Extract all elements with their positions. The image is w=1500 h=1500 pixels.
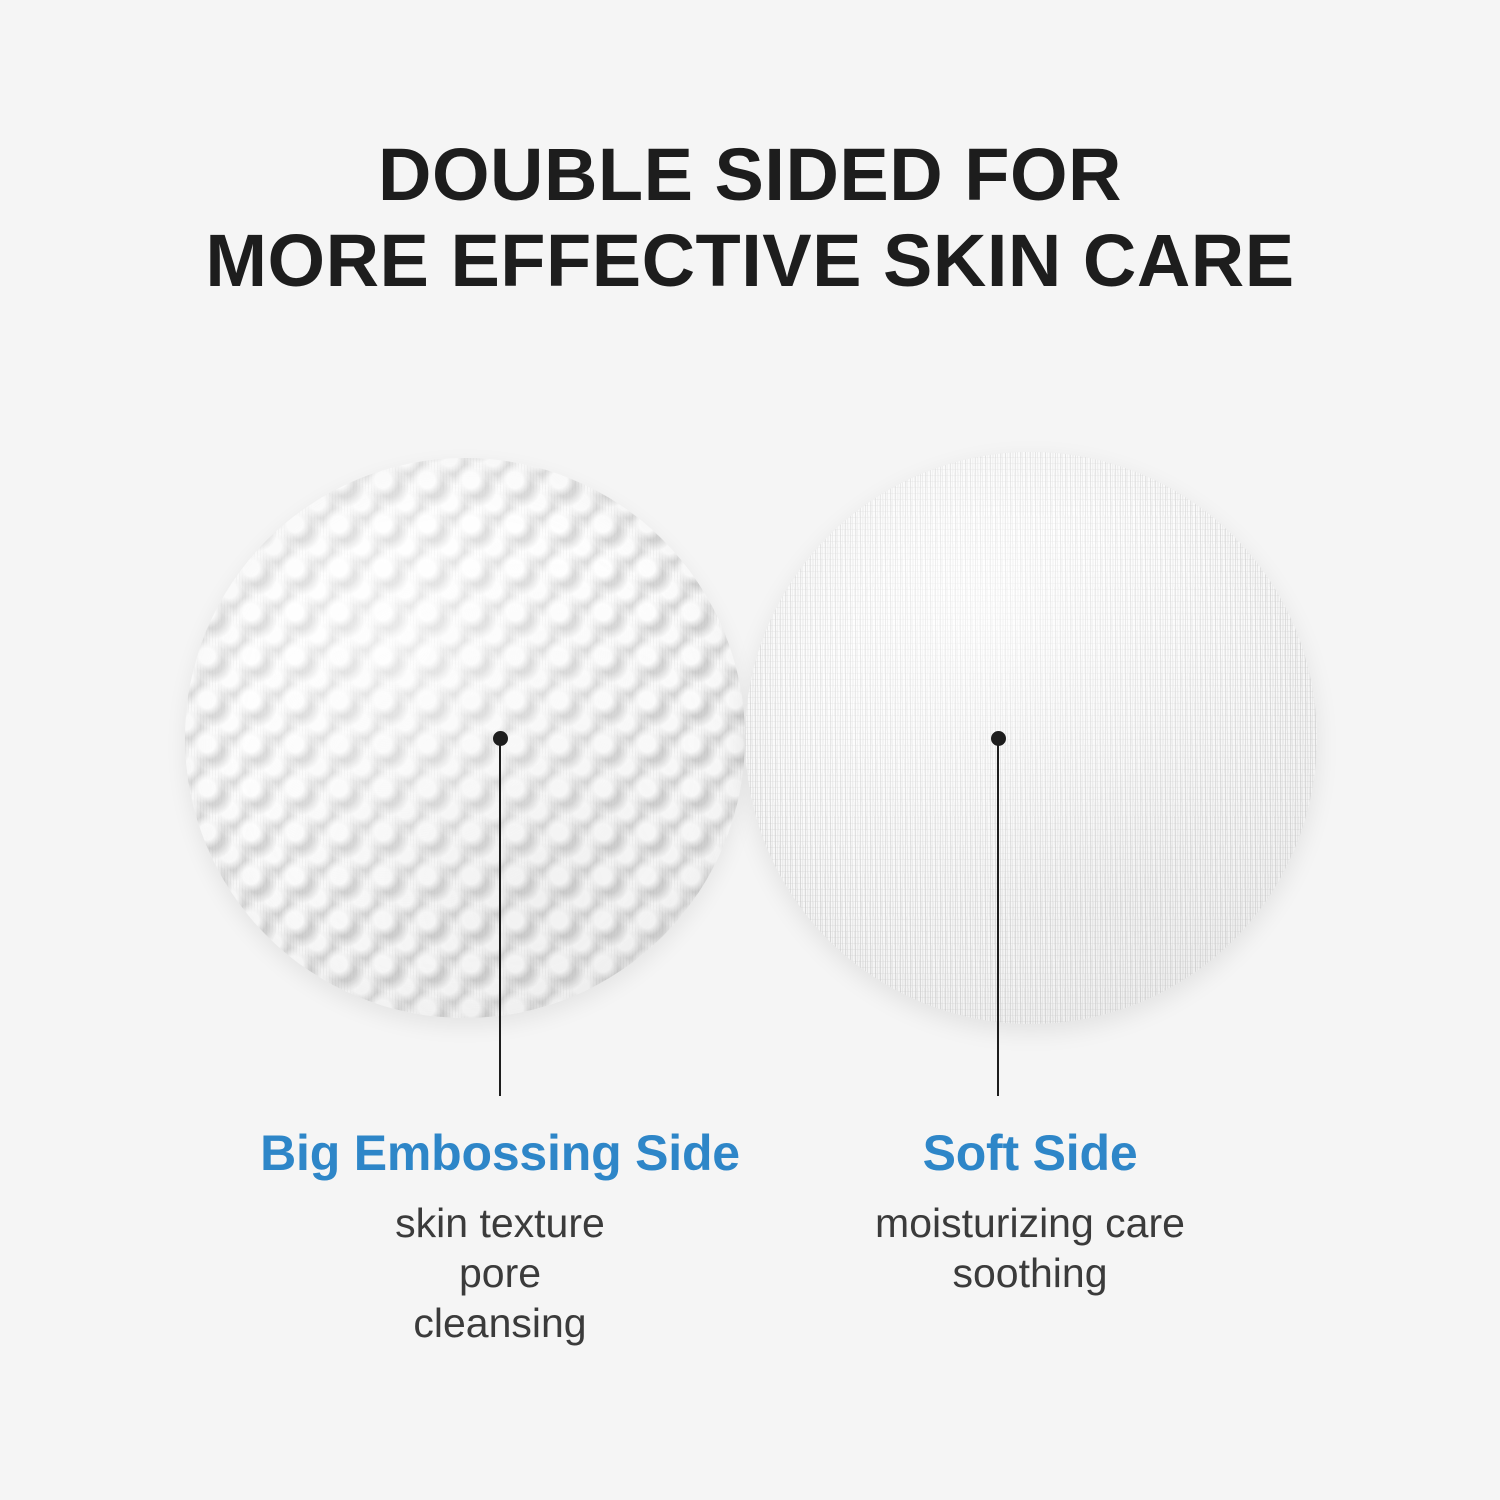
leader-line-icon	[997, 744, 999, 1096]
infographic-canvas: DOUBLE SIDED FOR MORE EFFECTIVE SKIN CAR…	[0, 0, 1500, 1500]
callout-body-line: cleansing	[250, 1298, 750, 1348]
callout-soft-side: Soft Side moisturizing care soothing	[780, 1122, 1280, 1298]
callout-body-line: soothing	[780, 1248, 1280, 1298]
callout-title: Big Embossing Side	[250, 1122, 750, 1184]
callout-body: moisturizing care soothing	[780, 1198, 1280, 1298]
callout-body-line: pore	[250, 1248, 750, 1298]
callout-title: Soft Side	[780, 1122, 1280, 1184]
callout-big-embossing-side: Big Embossing Side skin texture pore cle…	[250, 1122, 750, 1348]
leader-line-icon	[499, 744, 501, 1096]
soft-pad-image	[745, 452, 1317, 1024]
callout-body-line: moisturizing care	[780, 1198, 1280, 1248]
callout-body-line: skin texture	[250, 1198, 750, 1248]
embossing-pad-image	[185, 458, 745, 1018]
callout-body: skin texture pore cleansing	[250, 1198, 750, 1348]
